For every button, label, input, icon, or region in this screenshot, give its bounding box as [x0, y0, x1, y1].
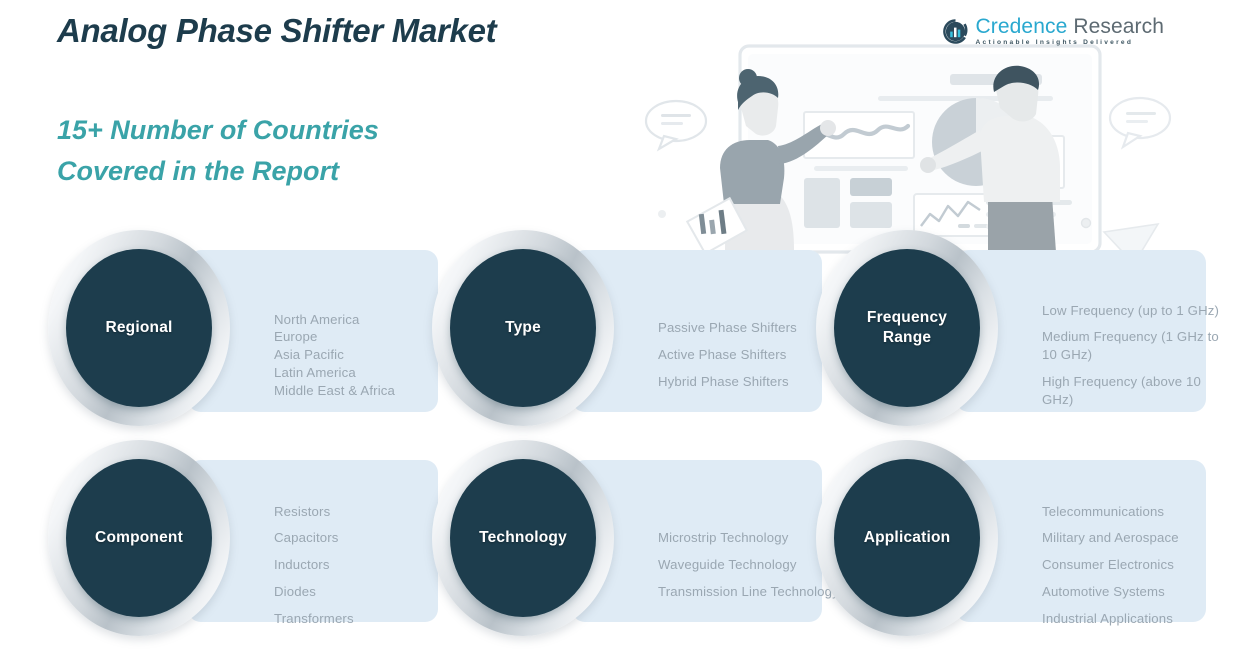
board-box-1 [804, 178, 840, 228]
segment-label: Type [505, 318, 541, 338]
brand-name-part1: Credence [976, 15, 1068, 38]
segment-circle-regional[interactable]: Regional [66, 249, 212, 407]
speech-bubble-left-icon [646, 101, 706, 149]
brand-tagline: Actionable Insights Delivered [976, 40, 1164, 47]
segment-item: Telecommunications [1042, 503, 1232, 521]
segment-card-frequency-range[interactable]: Low Frequency (up to 1 GHz)Medium Freque… [816, 228, 1206, 438]
segment-label: Application [864, 528, 951, 548]
board-box-3 [850, 202, 892, 228]
segment-card-type[interactable]: Passive Phase ShiftersActive Phase Shift… [432, 228, 822, 438]
segment-card-regional[interactable]: North AmericaEuropeAsia PacificLatin Ame… [48, 228, 438, 438]
segment-item: Automotive Systems [1042, 583, 1232, 601]
segment-card-component[interactable]: ResistorsCapacitorsInductorsDiodesTransf… [48, 438, 438, 648]
segment-item-list: Low Frequency (up to 1 GHz)Medium Freque… [1042, 250, 1232, 460]
board-box-2 [850, 178, 892, 196]
bar-chart-circle-logo-icon [942, 18, 969, 45]
segment-label: Technology [479, 528, 567, 548]
segment-item: Medium Frequency (1 GHz to 10 GHz) [1042, 328, 1232, 364]
segment-row-2: ResistorsCapacitorsInductorsDiodesTransf… [0, 438, 1256, 648]
segment-row-1: North AmericaEuropeAsia PacificLatin Ame… [0, 228, 1256, 438]
page-title: Analog Phase Shifter Market [57, 12, 496, 50]
segment-item: Industrial Applications [1042, 610, 1232, 628]
page-subtitle: 15+ Number of Countries Covered in the R… [57, 110, 379, 192]
segment-item: Military and Aerospace [1042, 529, 1232, 547]
segment-circle-frequency-range[interactable]: Frequency Range [834, 249, 980, 407]
segment-item: Low Frequency (up to 1 GHz) [1042, 302, 1232, 320]
segment-label: Regional [105, 318, 172, 338]
segment-circle-type[interactable]: Type [450, 249, 596, 407]
segment-item: High Frequency (above 10 GHz) [1042, 373, 1232, 409]
segment-item: Consumer Electronics [1042, 556, 1232, 574]
brand-logo: Credence Research Actionable Insights De… [942, 16, 1164, 47]
brand-name-part2: Research [1073, 15, 1164, 38]
segment-label: Frequency Range [867, 308, 947, 348]
segment-circle-component[interactable]: Component [66, 459, 212, 617]
segment-card-technology[interactable]: Microstrip TechnologyWaveguide Technolog… [432, 438, 822, 648]
segment-card-application[interactable]: TelecommunicationsMilitary and Aerospace… [816, 438, 1206, 648]
brand-name: Credence Research [976, 16, 1164, 37]
speech-bubble-right-icon [1110, 98, 1170, 147]
segment-label: Component [95, 528, 183, 548]
segment-item-list: TelecommunicationsMilitary and Aerospace… [1042, 460, 1232, 670]
segment-circle-application[interactable]: Application [834, 459, 980, 617]
segment-circle-technology[interactable]: Technology [450, 459, 596, 617]
